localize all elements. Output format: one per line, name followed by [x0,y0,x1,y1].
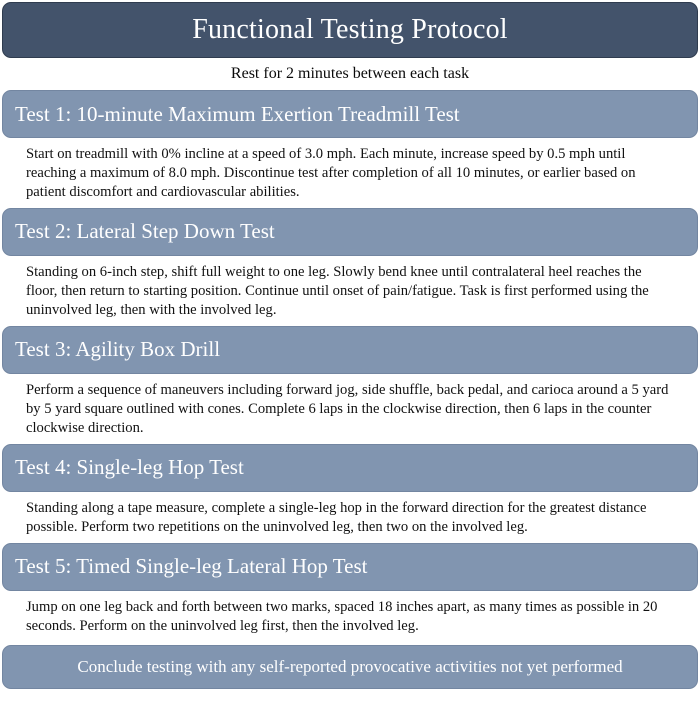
section-description-test-5: Jump on one leg back and forth between t… [26,598,676,636]
section-title-test-5: Test 5: Timed Single-leg Lateral Hop Tes… [15,556,367,577]
section-title-test-2: Test 2: Lateral Step Down Test [15,221,275,242]
section-body-test-1: Start on treadmill with 0% incline at a … [2,138,698,208]
section-title-test-1: Test 1: 10-minute Maximum Exertion Tread… [15,104,460,125]
functional-testing-protocol-sheet: Functional Testing Protocol Rest for 2 m… [0,0,700,721]
conclusion-text: Conclude testing with any self-reported … [77,658,622,675]
section-body-test-4: Standing along a tape measure, complete … [2,492,698,543]
section-header-test-4: Test 4: Single-leg Hop Test [2,444,698,492]
section-header-test-3: Test 3: Agility Box Drill [2,326,698,374]
section-description-test-2: Standing on 6-inch step, shift full weig… [26,263,676,320]
section-header-test-2: Test 2: Lateral Step Down Test [2,208,698,256]
page-title: Functional Testing Protocol [192,16,508,44]
rest-instruction-text: Rest for 2 minutes between each task [231,66,469,82]
section-title-test-4: Test 4: Single-leg Hop Test [15,457,244,478]
section-description-test-1: Start on treadmill with 0% incline at a … [26,145,676,202]
conclusion-bar: Conclude testing with any self-reported … [2,645,698,689]
section-description-test-4: Standing along a tape measure, complete … [26,499,676,537]
section-description-test-3: Perform a sequence of maneuvers includin… [26,381,676,438]
section-body-test-3: Perform a sequence of maneuvers includin… [2,374,698,444]
section-header-test-1: Test 1: 10-minute Maximum Exertion Tread… [2,90,698,138]
section-title-test-3: Test 3: Agility Box Drill [15,339,220,360]
section-body-test-5: Jump on one leg back and forth between t… [2,591,698,642]
protocol-subtitle-row: Rest for 2 minutes between each task [2,58,698,90]
section-body-test-2: Standing on 6-inch step, shift full weig… [2,256,698,326]
section-header-test-5: Test 5: Timed Single-leg Lateral Hop Tes… [2,543,698,591]
protocol-title-bar: Functional Testing Protocol [2,2,698,58]
